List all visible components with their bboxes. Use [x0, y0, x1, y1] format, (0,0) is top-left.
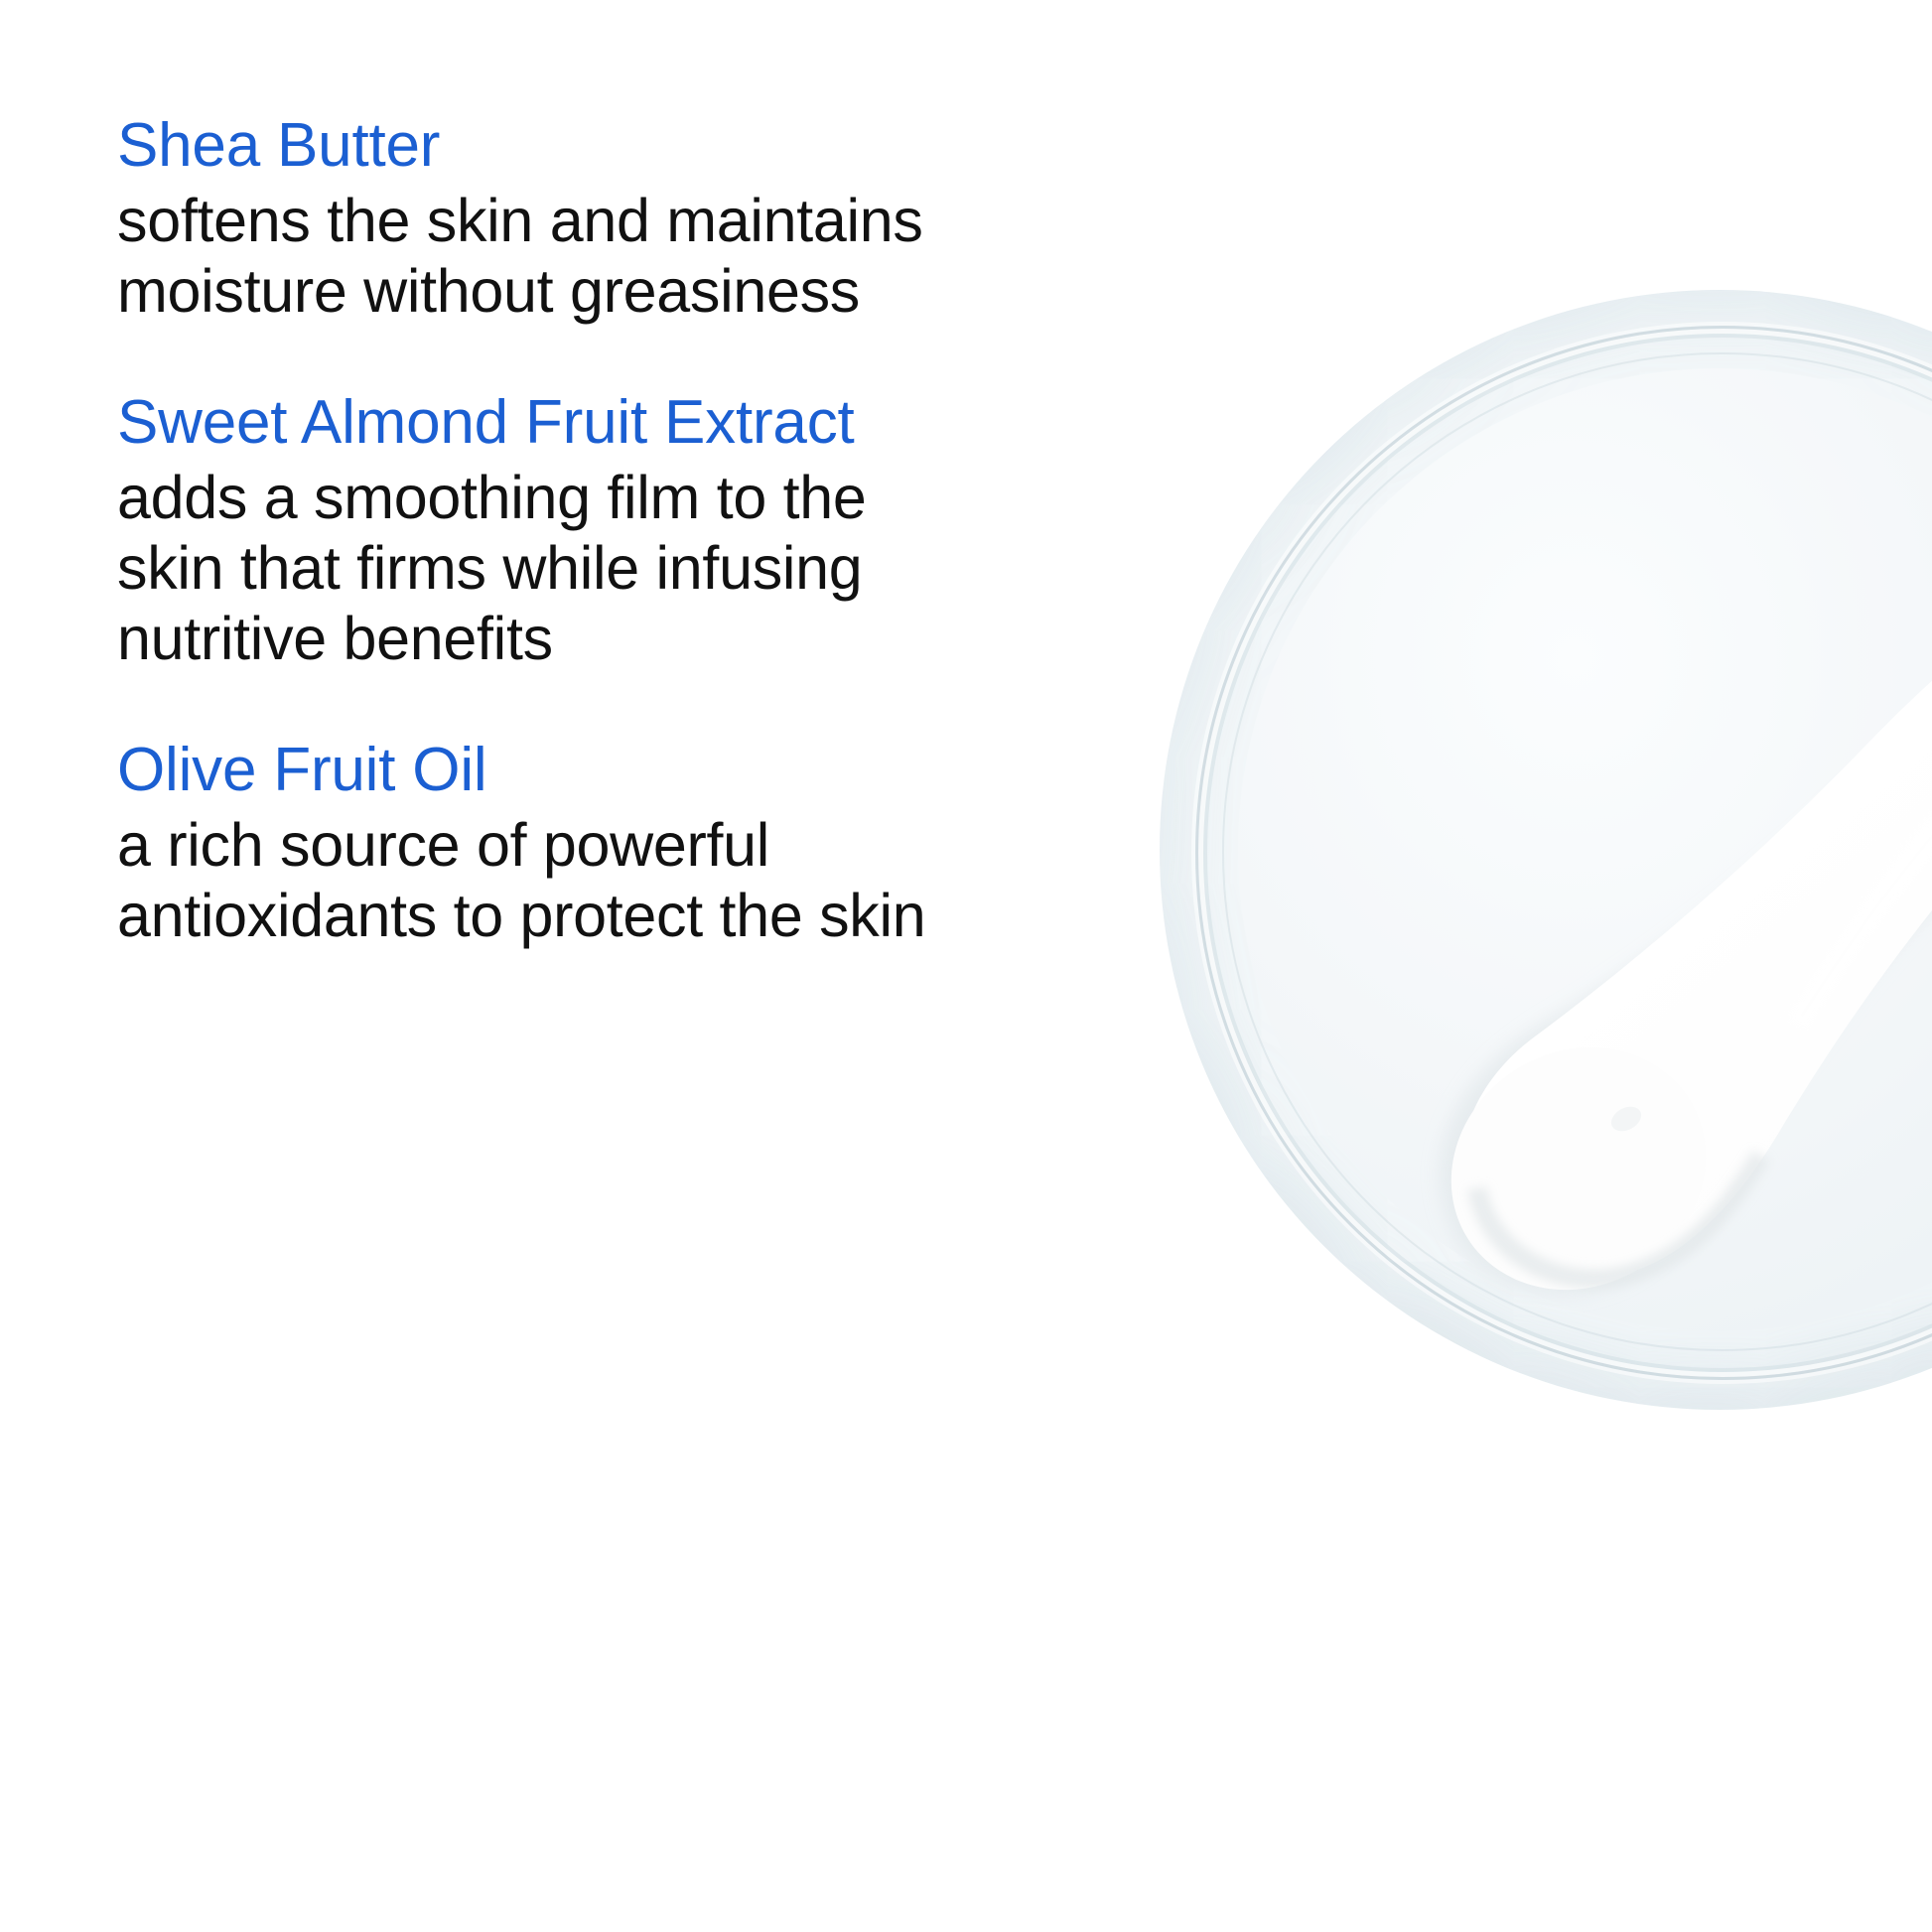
- ingredient-name: Shea Butter: [117, 111, 941, 180]
- cream-highlight: [1795, 540, 1932, 1027]
- ingredient-item-sweet-almond-fruit-extract: Sweet Almond Fruit Extract adds a smooth…: [117, 388, 941, 674]
- ingredient-list: Shea Butter softens the skin and maintai…: [117, 111, 941, 951]
- ingredient-name: Sweet Almond Fruit Extract: [117, 388, 941, 457]
- cream-swirl: [1160, 290, 1932, 1410]
- cream-dimple: [1607, 1102, 1646, 1136]
- cream-lobe: [1406, 1000, 1752, 1337]
- ingredient-name: Olive Fruit Oil: [117, 736, 941, 804]
- ingredient-item-shea-butter: Shea Butter softens the skin and maintai…: [117, 111, 941, 327]
- petri-dish-image: [1160, 290, 1932, 1410]
- product-ingredient-panel: Shea Butter softens the skin and maintai…: [0, 0, 1932, 1932]
- cream-underside-shading: [1477, 1156, 1761, 1279]
- ingredient-item-olive-fruit-oil: Olive Fruit Oil a rich source of powerfu…: [117, 736, 941, 951]
- ingredient-description: softens the skin and maintains moisture …: [117, 186, 941, 327]
- dish-interior-pool: [1238, 368, 1932, 1331]
- dish-inner-rim-secondary: [1222, 352, 1932, 1351]
- cream-shadow: [1440, 484, 1932, 1295]
- ingredient-description: adds a smoothing film to the skin that f…: [117, 463, 941, 673]
- ingredient-description: a rich source of powerful antioxidants t…: [117, 810, 941, 951]
- cream-blob: [1462, 459, 1932, 1280]
- dish-inner-rim: [1195, 326, 1932, 1380]
